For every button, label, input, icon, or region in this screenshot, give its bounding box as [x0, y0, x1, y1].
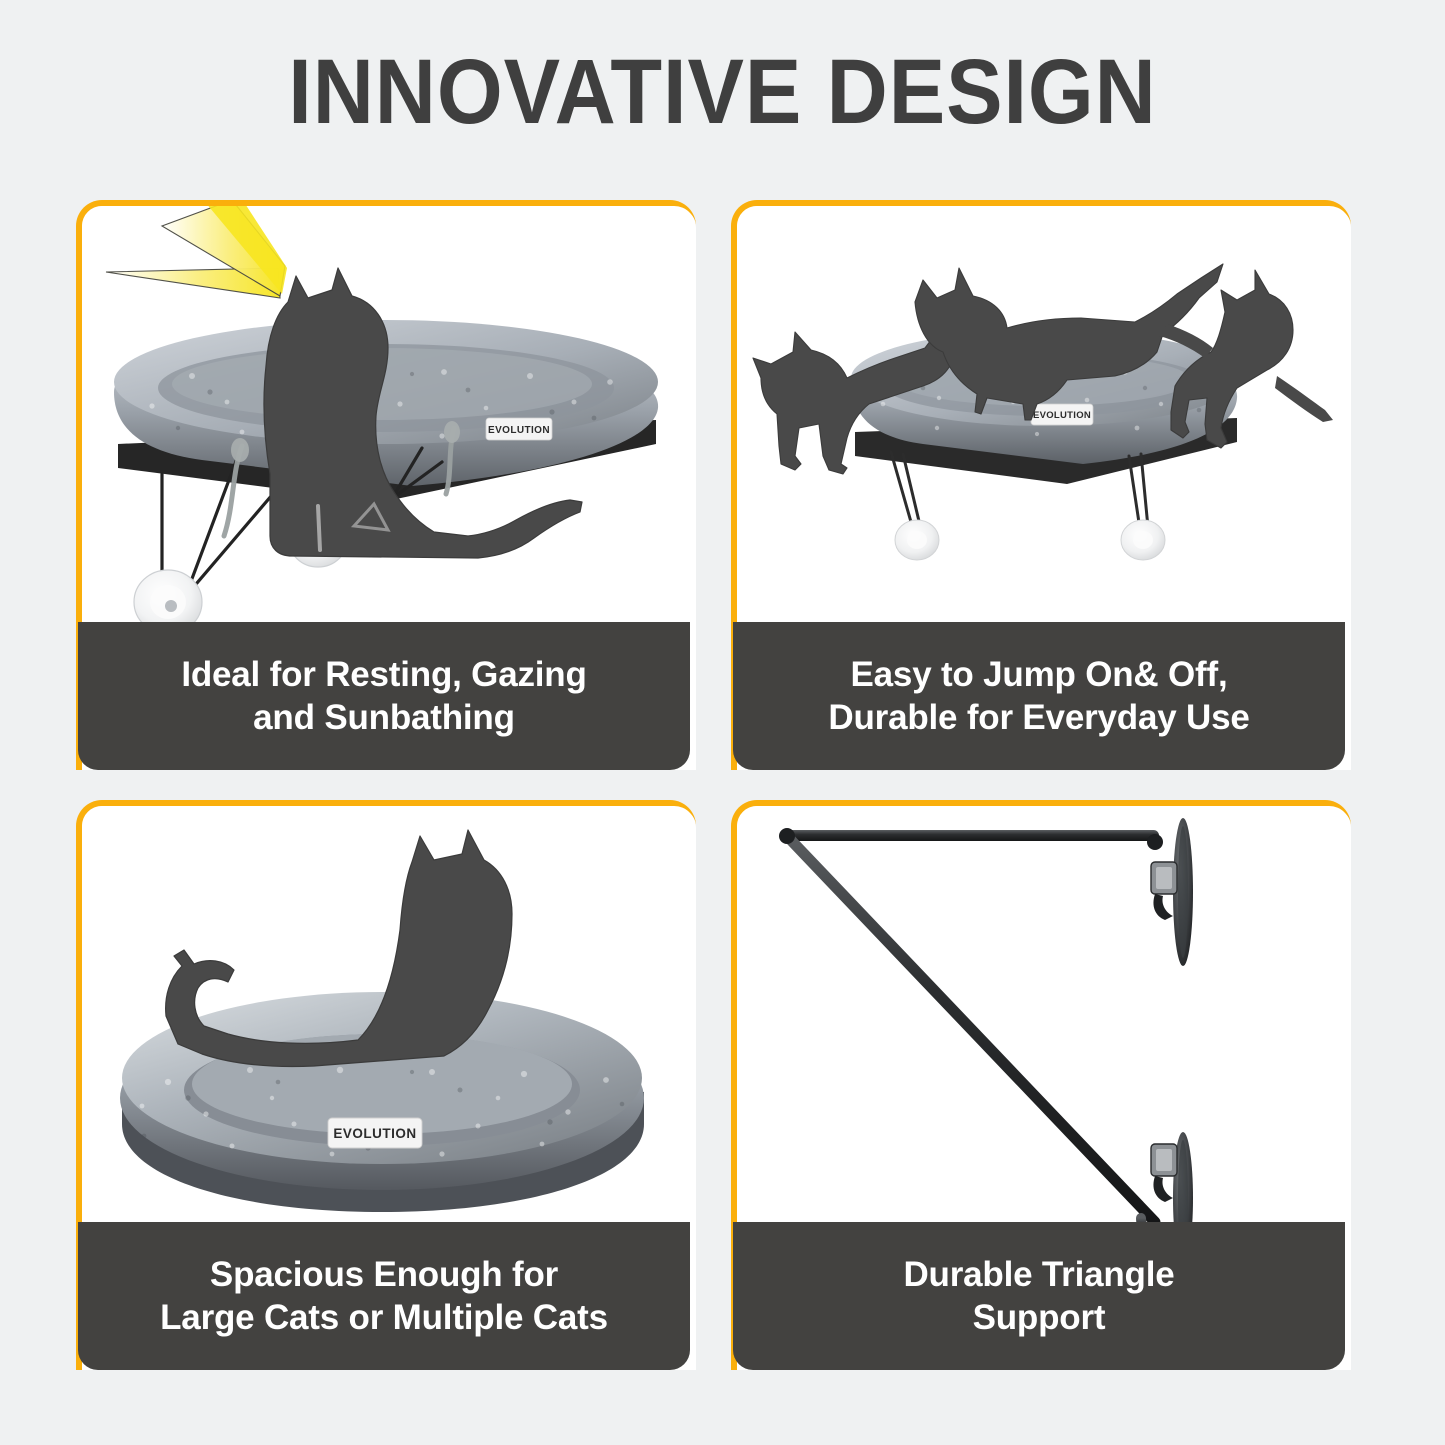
page-title: INNOVATIVE DESIGN [58, 44, 1387, 141]
brand-label: EVOLUTION [486, 418, 552, 440]
card-caption: Spacious Enough for Large Cats or Multip… [78, 1222, 690, 1370]
svg-text:EVOLUTION: EVOLUTION [1033, 410, 1091, 421]
card-caption: Easy to Jump On& Off, Durable for Everyd… [733, 622, 1345, 770]
suction-cup-left [895, 520, 939, 560]
infographic-root: INNOVATIVE DESIGN [0, 0, 1445, 1445]
brand-label: EVOLUTION [1031, 404, 1093, 425]
suction-cup-right [1121, 520, 1165, 560]
sunbeam-icon [106, 206, 287, 298]
card-caption: Ideal for Resting, Gazing and Sunbathing [78, 622, 690, 770]
caption-line-1: Durable Triangle [903, 1253, 1174, 1296]
caption-line-1: Easy to Jump On& Off, [828, 653, 1249, 696]
caption-line-2: Support [903, 1296, 1174, 1339]
feature-card-jump-on-off[interactable]: EVOLUTION [731, 200, 1351, 770]
svg-text:EVOLUTION: EVOLUTION [488, 425, 550, 436]
caption-line-2: Durable for Everyday Use [828, 696, 1249, 739]
feature-card-resting-gazing[interactable]: EVOLUTION [76, 200, 696, 770]
card-caption: Durable Triangle Support [733, 1222, 1345, 1370]
metal-triangle-frame [779, 828, 1163, 1236]
brand-label: EVOLUTION [328, 1118, 422, 1148]
svg-text:EVOLUTION: EVOLUTION [333, 1126, 416, 1141]
caption-line-1: Spacious Enough for [160, 1253, 608, 1296]
feature-card-grid: EVOLUTION [76, 200, 1371, 1395]
feature-card-spacious[interactable]: EVOLUTION Spacious Enough for Large Cats… [76, 800, 696, 1370]
caption-line-1: Ideal for Resting, Gazing [181, 653, 586, 696]
caption-line-2: Large Cats or Multiple Cats [160, 1296, 608, 1339]
caption-line-2: and Sunbathing [181, 696, 586, 739]
feature-card-triangle-support[interactable]: Durable Triangle Support [731, 800, 1351, 1370]
